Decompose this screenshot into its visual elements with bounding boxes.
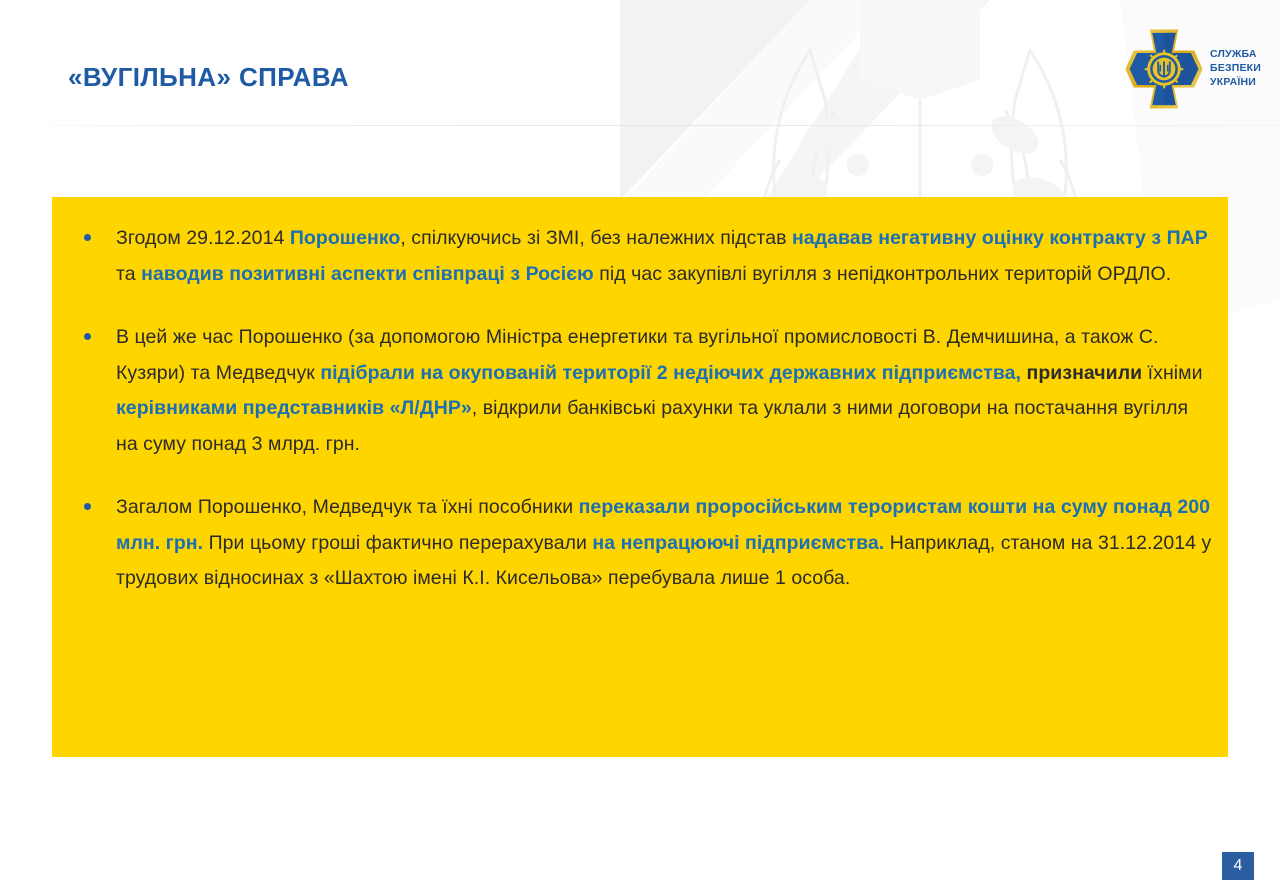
text-run: на непрацюючі підприємства. [592,532,884,554]
text-run: керівниками представників «Л/ДНР» [116,397,472,419]
page-title: «ВУГІЛЬНА» СПРАВА [68,62,349,93]
list-item-text: Згодом 29.12.2014 Порошенко, спілкуючись… [116,227,1208,285]
text-run: Загалом Порошенко, Медведчук та їхні пос… [116,496,579,518]
sbu-logo-line-1: СЛУЖБА [1210,48,1261,62]
bullet-dot-icon [84,234,91,241]
list-item-text: Загалом Порошенко, Медведчук та їхні пос… [116,496,1211,589]
content-panel: Згодом 29.12.2014 Порошенко, спілкуючись… [52,197,1228,757]
header-divider [0,125,1280,126]
text-run: При цьому гроші фактично перерахували [203,532,592,554]
bullet-dot-icon [84,503,91,510]
text-run: їхніми [1142,362,1202,384]
sbu-logo: СЛУЖБА БЕЗПЕКИ УКРАЇНИ [1122,25,1272,113]
slide: «ВУГІЛЬНА» СПРАВА [0,0,1280,886]
list-item-text: В цей же час Порошенко (за допомогою Мін… [116,326,1203,455]
text-run: Згодом 29.12.2014 [116,227,290,249]
text-run: наводив позитивні аспекти співпраці з Ро… [141,263,594,285]
sbu-logo-text: СЛУЖБА БЕЗПЕКИ УКРАЇНИ [1210,48,1261,90]
bullet-dot-icon [84,333,91,340]
sbu-cross-icon [1122,27,1206,111]
list-item: В цей же час Порошенко (за допомогою Мін… [64,320,1214,462]
list-item: Згодом 29.12.2014 Порошенко, спілкуючись… [64,221,1214,292]
text-run: та [116,263,141,285]
sbu-logo-line-2: БЕЗПЕКИ [1210,62,1261,76]
page-number-badge: 4 [1222,852,1254,880]
text-run: підібрали на окупованій території 2 неді… [320,362,1026,384]
text-run: , спілкуючись зі ЗМІ, без належних підст… [400,227,792,249]
bullet-list: Згодом 29.12.2014 Порошенко, спілкуючись… [64,221,1214,597]
list-item: Загалом Порошенко, Медведчук та їхні пос… [64,490,1214,597]
text-run: надавав негативну оцінку контракту з ПАР [792,227,1208,249]
text-run: Порошенко [290,227,401,249]
sbu-logo-line-3: УКРАЇНИ [1210,76,1261,90]
text-run: під час закупівлі вугілля з непідконтрол… [594,263,1171,285]
text-run: призначили [1027,362,1143,384]
